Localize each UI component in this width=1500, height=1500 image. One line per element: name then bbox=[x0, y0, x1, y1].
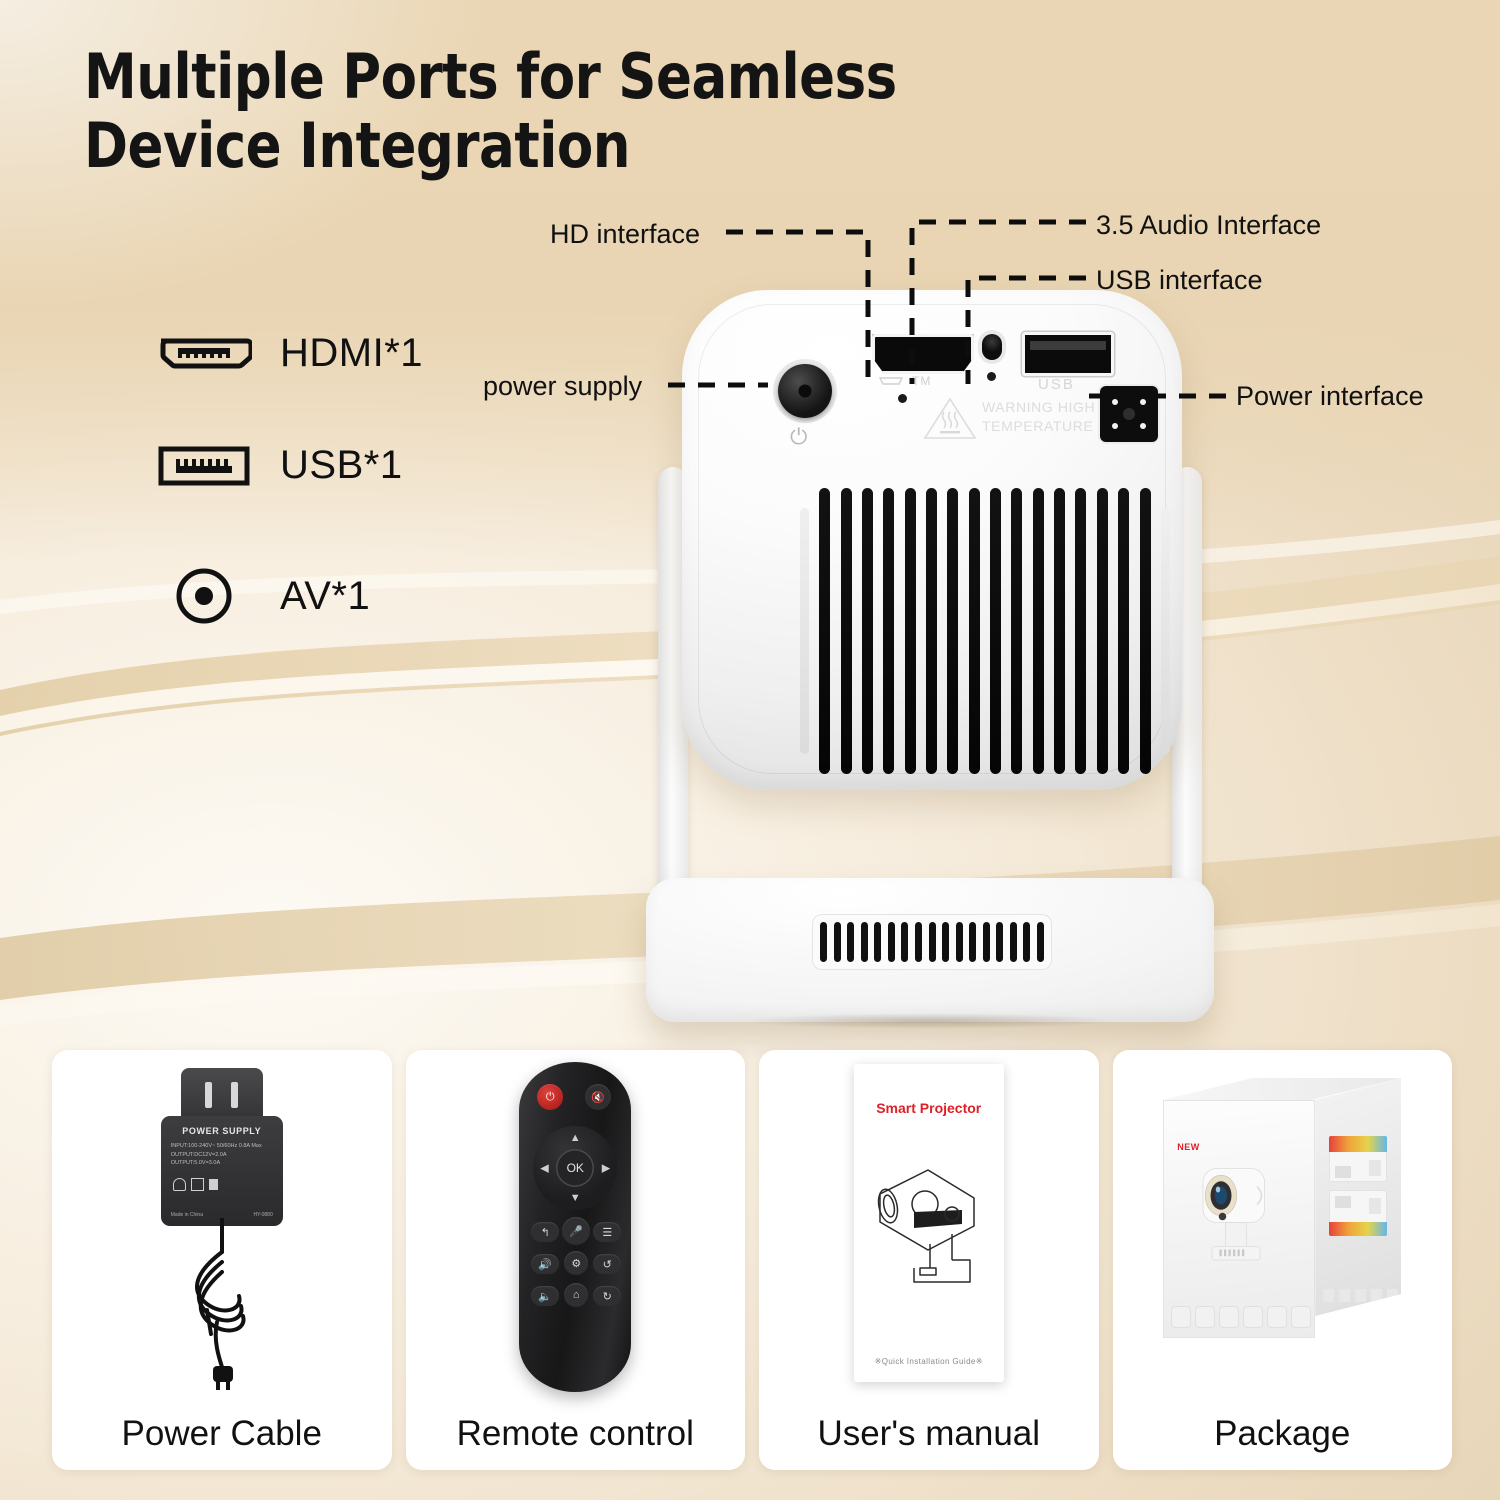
remote-down-button: ▼ bbox=[570, 1192, 581, 1204]
card-remote-control: ⏻ 🔇 ▲ ▼ ◀ ▶ OK ↰ 🎤 ☰ 🔊 ⚙ ↺ 🔈 ⌂ ↻ bbox=[406, 1050, 746, 1470]
package-product-image bbox=[1163, 1152, 1315, 1302]
callout-audio-interface: 3.5 Audio Interface bbox=[1096, 210, 1321, 241]
package-box: NEW bbox=[1157, 1078, 1407, 1368]
package-side-icons bbox=[1323, 1289, 1398, 1302]
manual-cover-title: Smart Projector bbox=[854, 1100, 1004, 1116]
base-ventilation-grille bbox=[812, 914, 1052, 970]
port-panel: ⏻ TM USB WARNING HIGH TE bbox=[682, 290, 1182, 458]
base-shadow bbox=[670, 1010, 1190, 1032]
projector-device: ⏻ TM USB WARNING HIGH TE bbox=[630, 282, 1230, 1042]
callout-power-supply: power supply bbox=[483, 371, 642, 402]
manual-cover-footer: ※Quick Installation Guide※ bbox=[854, 1357, 1004, 1366]
remote-mic-button[interactable]: 🎤 bbox=[562, 1217, 590, 1245]
av-audio-jack[interactable] bbox=[982, 334, 1002, 360]
remote-forward-button[interactable]: ↻ bbox=[593, 1286, 621, 1306]
projector-body: ⏻ TM USB WARNING HIGH TE bbox=[682, 290, 1182, 790]
card-label-remote-control: Remote control bbox=[406, 1414, 746, 1454]
package-new-badge: NEW bbox=[1177, 1142, 1200, 1152]
spec-item-hdmi: HDMI*1 bbox=[150, 331, 423, 376]
spec-label-hdmi: HDMI*1 bbox=[280, 331, 423, 376]
package-box-front: NEW bbox=[1163, 1100, 1315, 1338]
card-users-manual: Smart Projector ※Quick Installation bbox=[759, 1050, 1099, 1470]
spec-label-usb: USB*1 bbox=[280, 443, 403, 488]
remote-back-button[interactable]: ↰ bbox=[531, 1222, 559, 1242]
ventilation-grille bbox=[800, 488, 1170, 774]
projector-base bbox=[646, 878, 1214, 1022]
remote-ok-button[interactable]: OK bbox=[556, 1149, 594, 1187]
high-temperature-warning-icon bbox=[922, 394, 978, 442]
hdmi-tm-text: TM bbox=[912, 374, 931, 388]
av-jack-icon bbox=[150, 565, 258, 627]
power-cable-illustration: POWER SUPPLY INPUT:100-240V~ 50/60Hz 0.8… bbox=[52, 1058, 392, 1388]
card-label-users-manual: User's manual bbox=[759, 1414, 1099, 1454]
package-feature-badges bbox=[1171, 1306, 1311, 1328]
card-label-power-cable: Power Cable bbox=[52, 1414, 392, 1454]
remote-menu-button[interactable]: ☰ bbox=[593, 1222, 621, 1242]
remote-up-button: ▲ bbox=[570, 1132, 581, 1144]
remote-settings-button[interactable]: ⚙ bbox=[564, 1251, 588, 1275]
spec-label-av: AV*1 bbox=[280, 574, 370, 619]
hdmi-port[interactable] bbox=[872, 334, 974, 374]
adapter-spec-lines: INPUT:100-240V~ 50/60Hz 0.8A Max OUTPUT:… bbox=[171, 1142, 273, 1168]
remote-left-button: ◀ bbox=[540, 1162, 548, 1175]
hdmi-port-label: TM bbox=[878, 374, 931, 388]
usb-port-icon bbox=[150, 444, 258, 488]
adapter-cord bbox=[147, 1218, 297, 1398]
adapter-body: POWER SUPPLY INPUT:100-240V~ 50/60Hz 0.8… bbox=[161, 1116, 283, 1226]
remote-volume-down-button[interactable]: 🔈 bbox=[531, 1286, 559, 1306]
callout-power-interface: Power interface bbox=[1236, 381, 1424, 412]
remote-home-button[interactable]: ⌂ bbox=[564, 1283, 588, 1307]
spec-item-usb: USB*1 bbox=[150, 443, 403, 488]
power-symbol-icon: ⏻ bbox=[790, 426, 807, 448]
users-manual-illustration: Smart Projector ※Quick Installation bbox=[759, 1058, 1099, 1388]
remote-volume-up-button[interactable]: 🔊 bbox=[531, 1254, 559, 1274]
page-title: Multiple Ports for Seamless Device Integ… bbox=[84, 42, 897, 181]
adapter-title: POWER SUPPLY bbox=[161, 1126, 283, 1136]
package-room-scene-top bbox=[1329, 1136, 1387, 1182]
usb-port-label: USB bbox=[1038, 376, 1075, 393]
remote-dpad[interactable]: ▲ ▼ ◀ ▶ OK bbox=[533, 1126, 617, 1210]
package-illustration: NEW bbox=[1113, 1058, 1453, 1388]
remote-right-button: ▶ bbox=[602, 1162, 610, 1175]
manual-projector-line-art bbox=[870, 1142, 988, 1292]
package-room-scene-bottom bbox=[1329, 1190, 1387, 1236]
remote-rewind-button[interactable]: ↺ bbox=[593, 1254, 621, 1274]
power-adapter: POWER SUPPLY INPUT:100-240V~ 50/60Hz 0.8… bbox=[147, 1068, 297, 1388]
remote-power-button[interactable]: ⏻ bbox=[537, 1084, 563, 1110]
callout-usb-interface: USB interface bbox=[1096, 265, 1263, 296]
remote-mute-button[interactable]: 🔇 bbox=[585, 1084, 611, 1110]
power-interface-socket[interactable] bbox=[1100, 386, 1158, 442]
remote-control-device: ⏻ 🔇 ▲ ▼ ◀ ▶ OK ↰ 🎤 ☰ 🔊 ⚙ ↺ 🔈 ⌂ ↻ bbox=[519, 1062, 631, 1392]
card-label-package: Package bbox=[1113, 1414, 1453, 1454]
accessory-cards: POWER SUPPLY INPUT:100-240V~ 50/60Hz 0.8… bbox=[52, 1050, 1452, 1470]
remote-control-illustration: ⏻ 🔇 ▲ ▼ ◀ ▶ OK ↰ 🎤 ☰ 🔊 ⚙ ↺ 🔈 ⌂ ↻ bbox=[406, 1058, 746, 1388]
hdmi-port-icon bbox=[150, 334, 258, 374]
adapter-certification-marks bbox=[173, 1178, 218, 1191]
package-box-side bbox=[1315, 1078, 1401, 1316]
usb-port[interactable] bbox=[1022, 332, 1114, 376]
card-power-cable: POWER SUPPLY INPUT:100-240V~ 50/60Hz 0.8… bbox=[52, 1050, 392, 1470]
av-indicator-dot bbox=[987, 372, 996, 381]
spec-item-av: AV*1 bbox=[150, 565, 370, 627]
hdmi-indicator-dot bbox=[898, 394, 907, 403]
callout-hd-interface: HD interface bbox=[550, 219, 700, 250]
power-button[interactable] bbox=[778, 364, 832, 418]
card-package: NEW bbox=[1113, 1050, 1453, 1470]
manual-booklet: Smart Projector ※Quick Installation bbox=[854, 1064, 1004, 1382]
